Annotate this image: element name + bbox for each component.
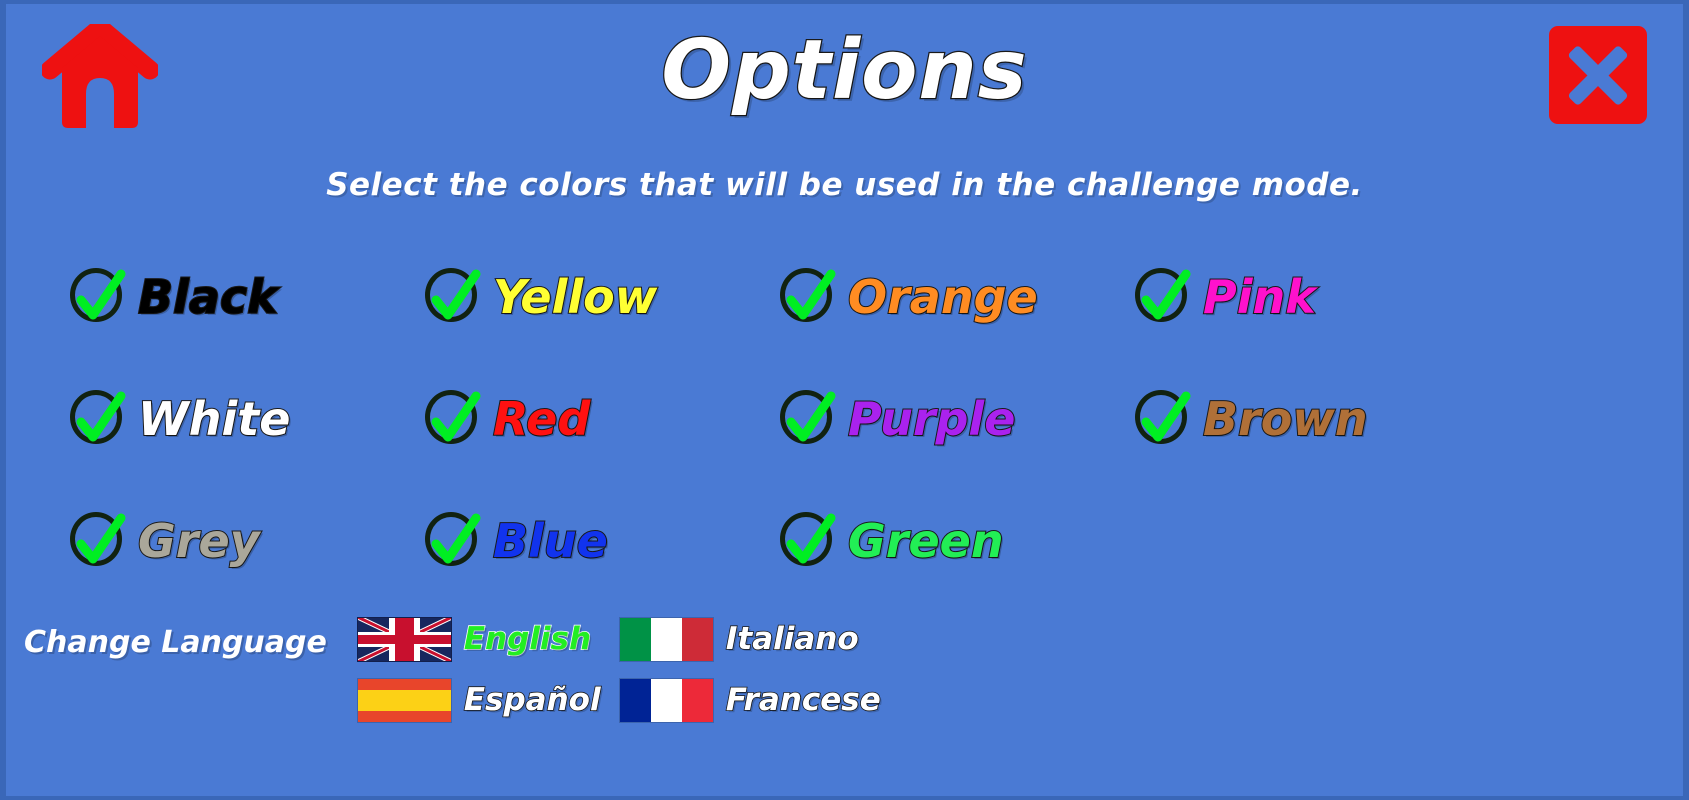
language-option-español[interactable]: Español bbox=[357, 670, 619, 731]
language-options-grid: EnglishItalianoEspañolFrancese bbox=[357, 609, 881, 731]
checkmark-icon bbox=[778, 388, 840, 450]
language-section: Change Language EnglishItalianoEspañolFr… bbox=[24, 609, 881, 731]
color-option-grey[interactable]: Grey bbox=[68, 480, 423, 602]
instruction-text: Select the colors that will be used in t… bbox=[6, 167, 1683, 203]
checkbox-red[interactable] bbox=[423, 388, 485, 450]
flag-spain-icon[interactable] bbox=[357, 678, 452, 723]
color-label-orange: Orange bbox=[848, 274, 1038, 320]
checkbox-yellow[interactable] bbox=[423, 266, 485, 328]
language-label-english: English bbox=[464, 624, 591, 655]
checkbox-black[interactable] bbox=[68, 266, 130, 328]
language-option-francese[interactable]: Francese bbox=[619, 670, 881, 731]
flag-italy-icon[interactable] bbox=[619, 617, 714, 662]
checkmark-icon bbox=[68, 266, 130, 328]
checkbox-pink[interactable] bbox=[1133, 266, 1195, 328]
checkmark-icon bbox=[68, 388, 130, 450]
checkmark-icon bbox=[1133, 266, 1195, 328]
checkmark-icon bbox=[423, 510, 485, 572]
checkbox-white[interactable] bbox=[68, 388, 130, 450]
language-option-italiano[interactable]: Italiano bbox=[619, 609, 881, 670]
color-label-purple: Purple bbox=[848, 396, 1015, 442]
color-option-red[interactable]: Red bbox=[423, 358, 778, 480]
checkbox-brown[interactable] bbox=[1133, 388, 1195, 450]
checkmark-icon bbox=[423, 266, 485, 328]
color-options-grid: BlackYellowOrangePinkWhiteRedPurpleBrown… bbox=[68, 236, 1488, 602]
color-option-purple[interactable]: Purple bbox=[778, 358, 1133, 480]
checkbox-grey[interactable] bbox=[68, 510, 130, 572]
color-label-black: Black bbox=[138, 274, 278, 320]
color-label-yellow: Yellow bbox=[493, 274, 657, 320]
color-label-green: Green bbox=[848, 518, 1004, 564]
language-label-italiano: Italiano bbox=[726, 624, 859, 655]
language-label-español: Español bbox=[464, 685, 601, 716]
checkmark-icon bbox=[423, 388, 485, 450]
language-option-english[interactable]: English bbox=[357, 609, 619, 670]
checkmark-icon bbox=[68, 510, 130, 572]
change-language-label: Change Language bbox=[24, 625, 327, 660]
language-label-francese: Francese bbox=[726, 685, 881, 716]
color-option-yellow[interactable]: Yellow bbox=[423, 236, 778, 358]
color-option-orange[interactable]: Orange bbox=[778, 236, 1133, 358]
checkbox-blue[interactable] bbox=[423, 510, 485, 572]
color-option-black[interactable]: Black bbox=[68, 236, 423, 358]
color-label-grey: Grey bbox=[138, 518, 260, 564]
color-options-row: GreyBlueGreen bbox=[68, 480, 1488, 602]
checkbox-green[interactable] bbox=[778, 510, 840, 572]
close-button[interactable] bbox=[1549, 26, 1647, 124]
checkbox-orange[interactable] bbox=[778, 266, 840, 328]
color-label-red: Red bbox=[493, 396, 590, 442]
color-label-blue: Blue bbox=[493, 518, 608, 564]
color-option-green[interactable]: Green bbox=[778, 480, 1133, 602]
color-label-white: White bbox=[138, 396, 290, 442]
checkmark-icon bbox=[1133, 388, 1195, 450]
flag-france-icon[interactable] bbox=[619, 678, 714, 723]
color-option-brown[interactable]: Brown bbox=[1133, 358, 1488, 480]
color-options-row: BlackYellowOrangePink bbox=[68, 236, 1488, 358]
checkmark-icon bbox=[778, 510, 840, 572]
color-option-pink[interactable]: Pink bbox=[1133, 236, 1488, 358]
color-options-row: WhiteRedPurpleBrown bbox=[68, 358, 1488, 480]
color-label-brown: Brown bbox=[1203, 396, 1368, 442]
checkmark-icon bbox=[778, 266, 840, 328]
color-option-placeholder bbox=[1133, 480, 1488, 602]
checkbox-purple[interactable] bbox=[778, 388, 840, 450]
page-title: Options bbox=[6, 30, 1683, 112]
color-option-white[interactable]: White bbox=[68, 358, 423, 480]
flag-united-kingdom-icon[interactable] bbox=[357, 617, 452, 662]
options-screen: Options Select the colors that will be u… bbox=[0, 0, 1689, 800]
color-label-pink: Pink bbox=[1203, 274, 1316, 320]
color-option-blue[interactable]: Blue bbox=[423, 480, 778, 602]
